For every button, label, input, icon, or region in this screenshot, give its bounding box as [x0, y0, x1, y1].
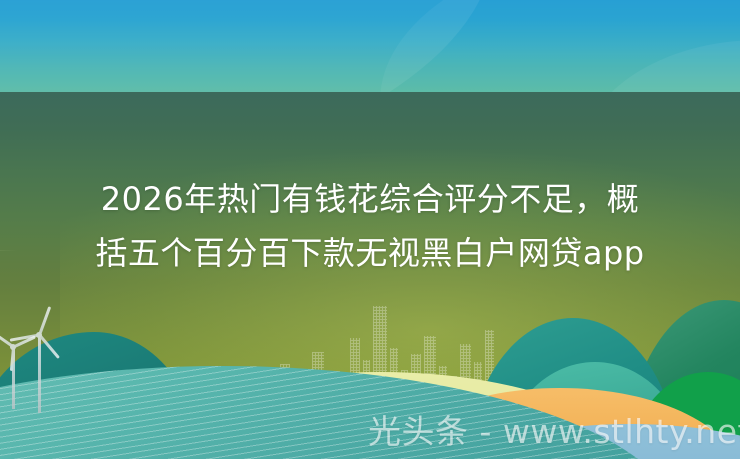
headline-line-1: 2026年热门有钱花综合评分不足，概 [0, 172, 740, 226]
page-title: 2026年热门有钱花综合评分不足，概 括五个百分百下款无视黑白户网贷app [0, 172, 740, 280]
site-watermark: 光头条 - www.stlhty.net [368, 412, 740, 452]
sky-background [0, 0, 740, 92]
headline-line-2: 括五个百分百下款无视黑白户网贷app [0, 226, 740, 280]
turbine-nacelle [10, 344, 16, 350]
poster-image: 2026年热门有钱花综合评分不足，概 括五个百分百下款无视黑白户网贷app 光头… [0, 0, 740, 459]
wind-turbine-left-small-icon [0, 318, 42, 414]
